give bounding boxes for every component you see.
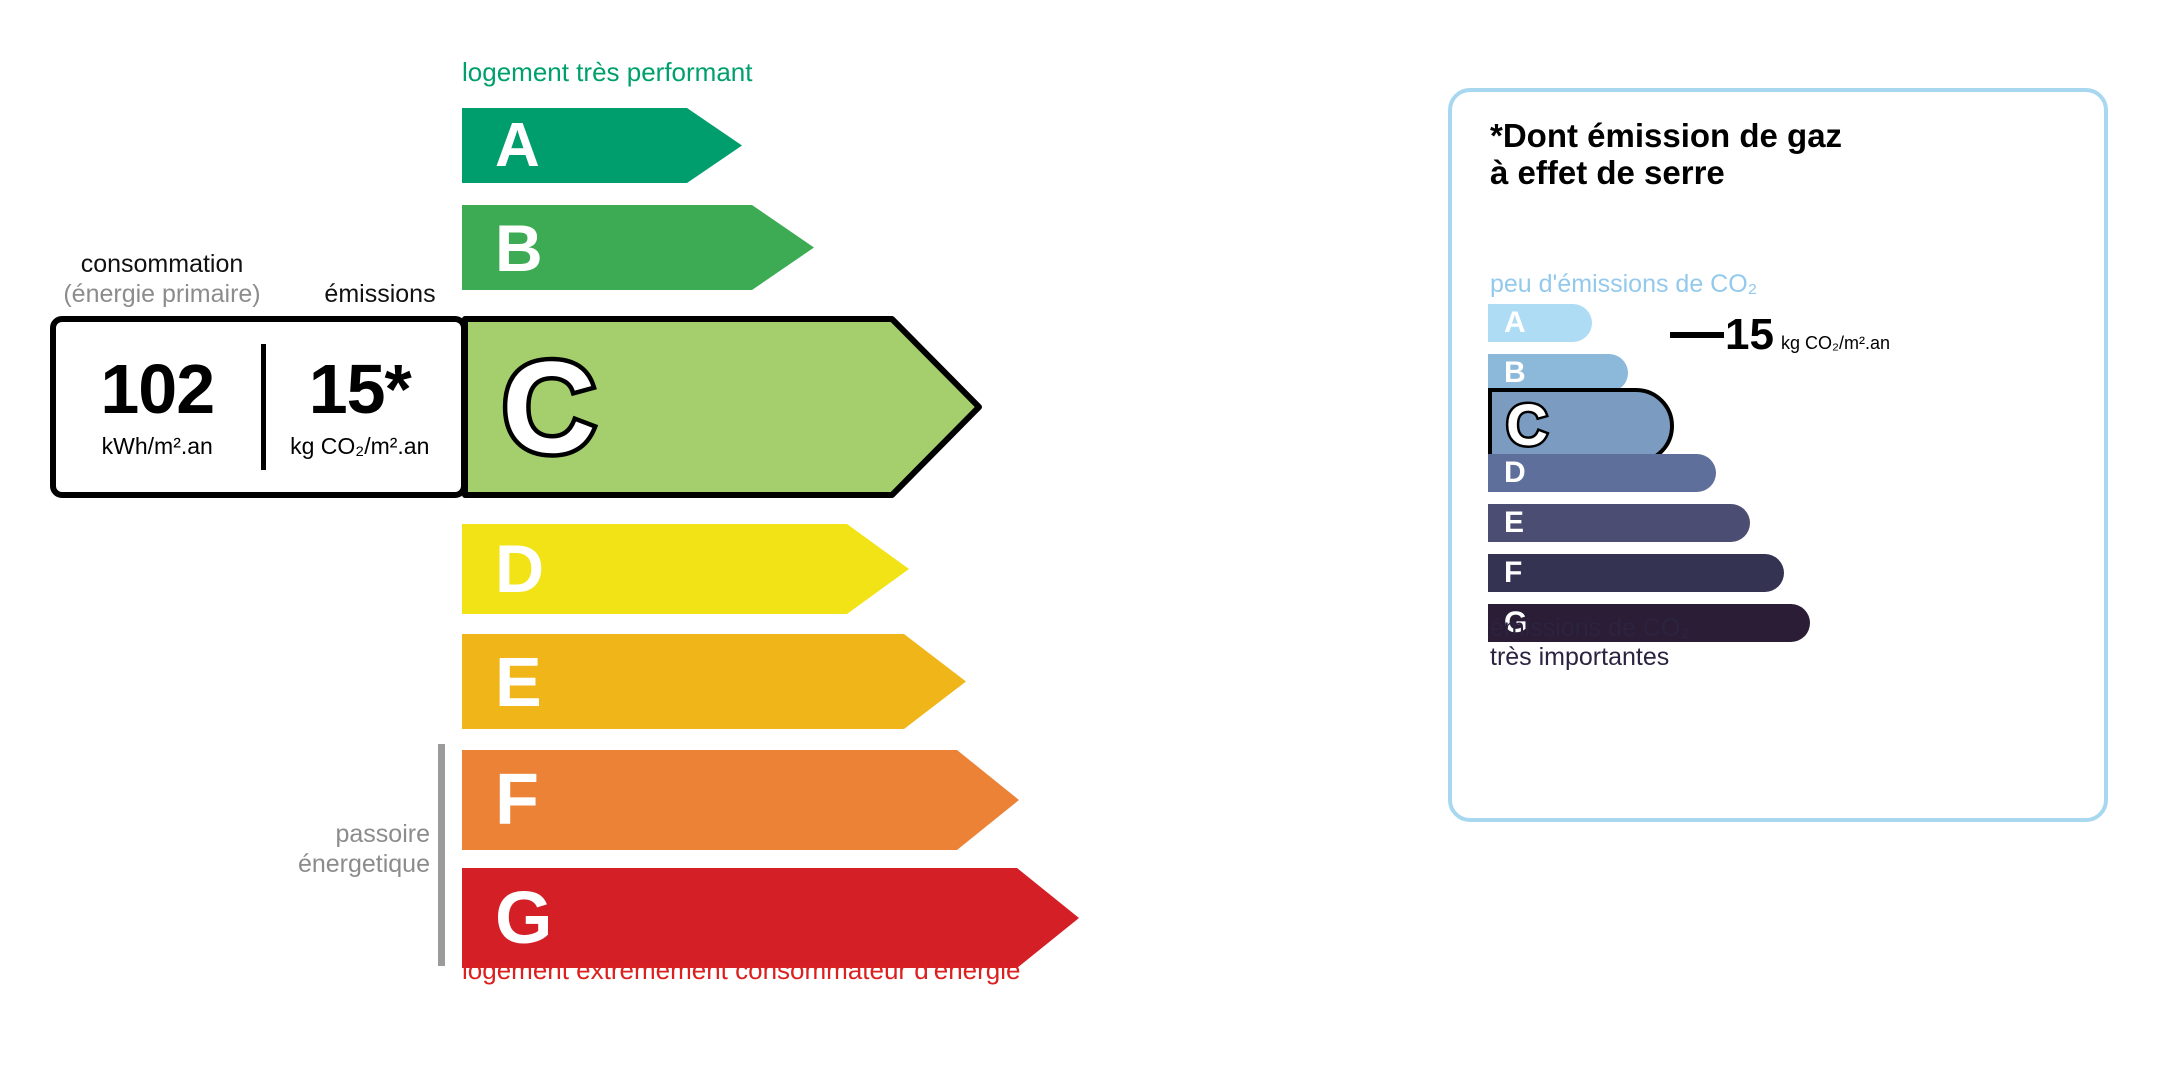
consumption-label-sub: (énergie primaire): [47, 280, 277, 310]
emissions-label: émissions: [300, 280, 460, 309]
energy-band-letter-d: D: [495, 535, 544, 603]
energy-band-c: C: [462, 316, 982, 498]
passoire-energetique-marker: [438, 744, 445, 966]
co2-bottom-caption: émissions de CO₂ très importantes: [1490, 614, 1690, 672]
co2-bottom-caption-line2: très importantes: [1490, 643, 1669, 671]
energy-band-letter-b: B: [495, 215, 543, 281]
energy-band-letter-a: A: [495, 115, 540, 177]
co2-emissions-panel: *Dont émission de gaz à effet de serre p…: [1448, 88, 2108, 822]
energy-band-a: A: [462, 108, 742, 183]
emissions-value: 15*: [309, 354, 411, 424]
passoire-energetique-label: passoire énergetique: [230, 820, 430, 879]
consumption-label: consommation (énergie primaire): [47, 250, 277, 309]
energy-band-shape-g: [462, 868, 1079, 968]
value-box: 102 kWh/m².an 15* kg CO₂/m².an: [50, 316, 467, 498]
co2-value-unit: kg CO₂/m².an: [1781, 333, 1890, 353]
co2-value: 15kg CO₂/m².an: [1725, 313, 1890, 357]
energy-band-letter-f: F: [495, 764, 539, 836]
emissions-value-cell: 15* kg CO₂/m².an: [259, 322, 462, 492]
passoire-label-line1: passoire: [336, 820, 431, 848]
co2-leader-line: [1452, 92, 2112, 826]
scale-bottom-caption: logement extrêmement consommateur d'éner…: [462, 955, 1020, 986]
co2-bottom-caption-line1: émissions de CO₂: [1490, 614, 1690, 642]
energy-band-f: F: [462, 750, 1019, 850]
consumption-value: 102: [100, 354, 214, 424]
energy-band-letter-e: E: [495, 647, 542, 717]
energy-band-b: B: [462, 205, 814, 290]
energy-band-e: E: [462, 634, 966, 729]
energy-band-letter-g: G: [495, 881, 553, 955]
scale-top-caption: logement très performant: [462, 57, 752, 88]
passoire-label-line2: énergetique: [298, 850, 430, 878]
energy-band-d: D: [462, 524, 909, 614]
emissions-unit: kg CO₂/m².an: [290, 433, 429, 460]
energy-band-letter-c: C: [502, 342, 596, 472]
consumption-label-main: consommation: [81, 250, 244, 278]
energy-band-g: G: [462, 868, 1079, 968]
co2-value-number: 15: [1725, 310, 1774, 359]
consumption-unit: kWh/m².an: [102, 433, 213, 460]
energy-band-shape-f: [462, 750, 1019, 850]
consumption-value-cell: 102 kWh/m².an: [56, 322, 259, 492]
energy-performance-scale: logement très performant ABCDEFG passoir…: [0, 0, 1330, 1079]
